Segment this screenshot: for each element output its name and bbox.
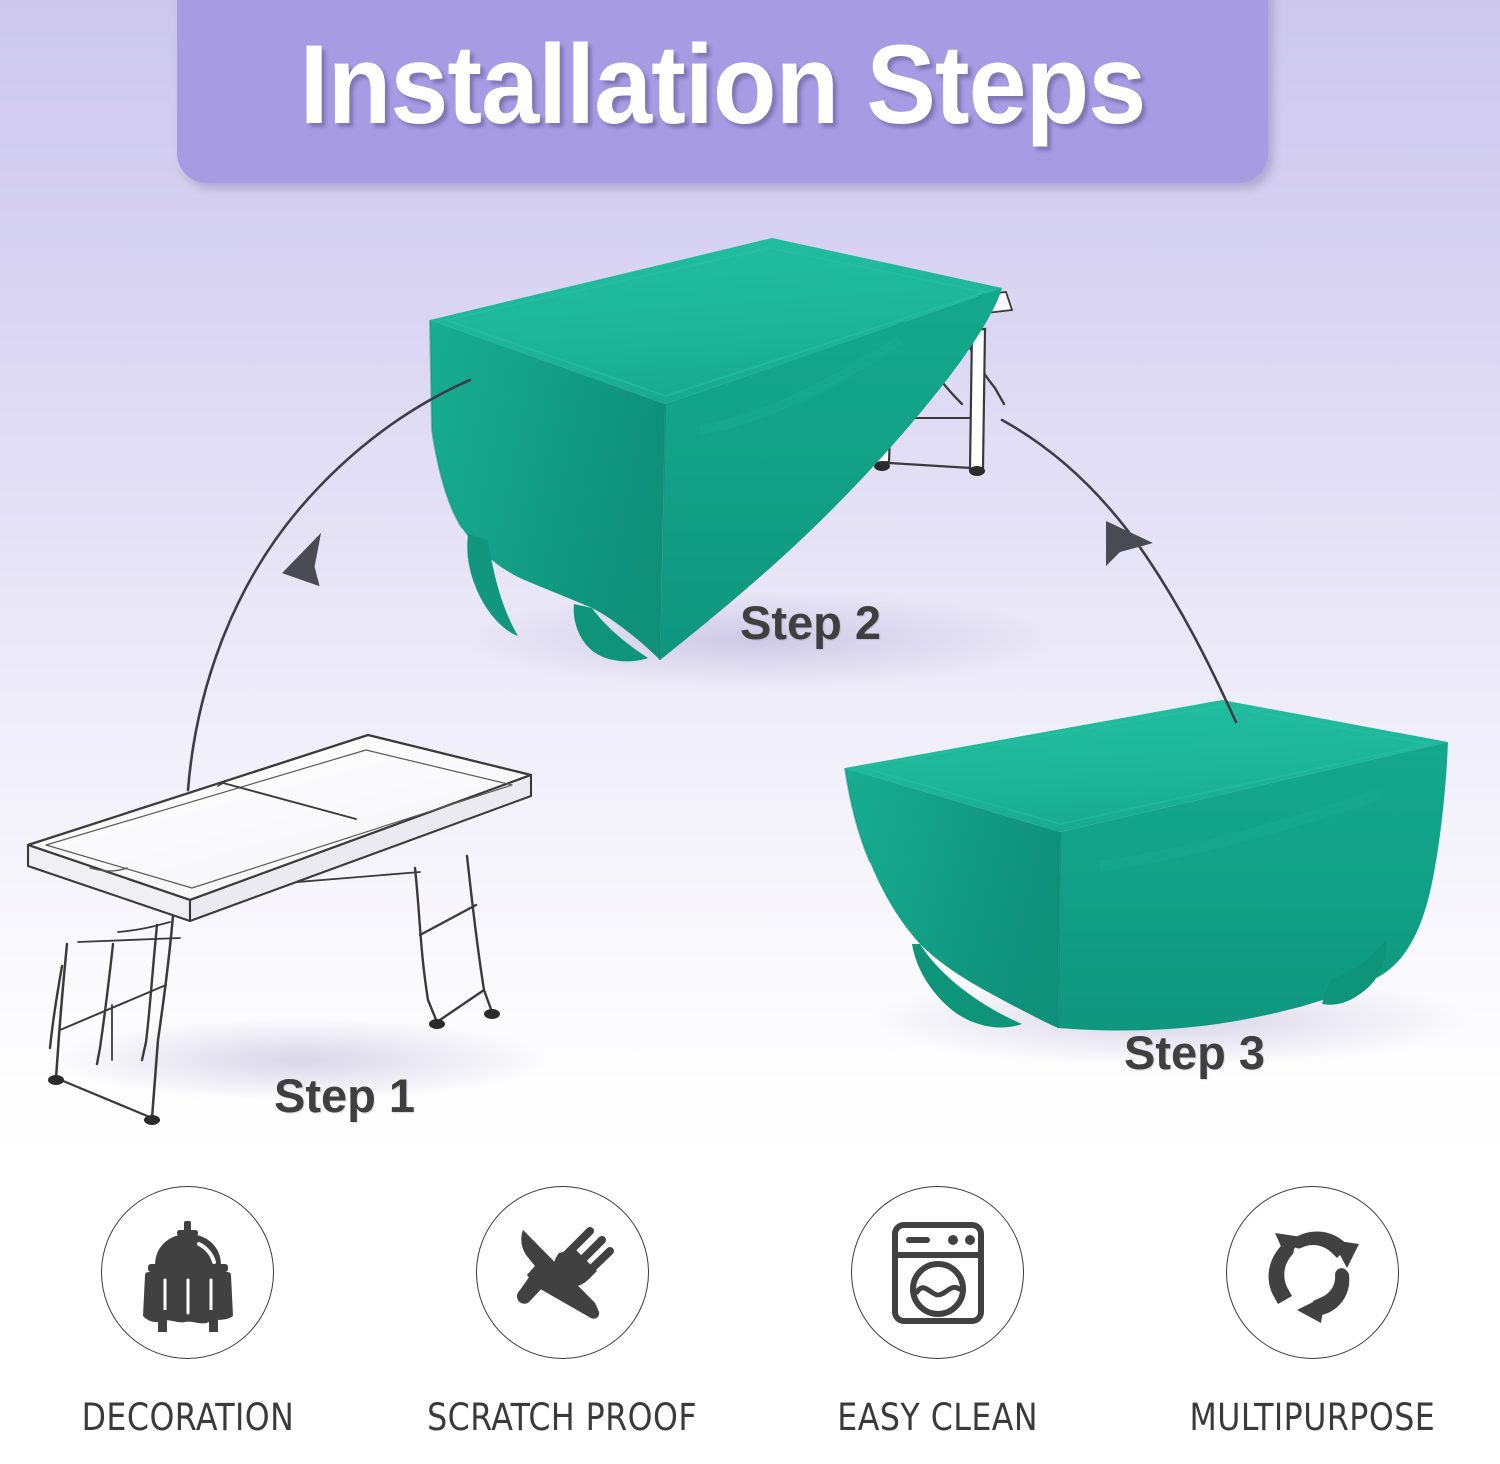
step-2-label: Step 2 (740, 595, 881, 650)
feature-easy-clean: EASY CLEAN (750, 1186, 1125, 1464)
feature-multipurpose-circle (1226, 1186, 1399, 1359)
page-title: Installation Steps (215, 0, 1230, 170)
header-banner: Installation Steps (177, 0, 1268, 183)
feature-decoration-label: DECORATION (81, 1396, 294, 1439)
feature-decoration-circle (101, 1186, 274, 1359)
feature-scratch-proof-circle (476, 1186, 649, 1359)
covered-table-icon (129, 1214, 247, 1332)
step-3-label: Step 3 (1124, 1025, 1265, 1080)
feature-multipurpose-label: MULTIPURPOSE (1190, 1396, 1436, 1439)
feature-scratch-proof-label: SCRATCH PROOF (428, 1396, 698, 1439)
recycle-arrows-icon (1257, 1217, 1369, 1329)
feature-easy-clean-circle (851, 1186, 1024, 1359)
feature-multipurpose: MULTIPURPOSE (1125, 1186, 1500, 1464)
feature-easy-clean-label: EASY CLEAN (837, 1396, 1038, 1439)
step-1-label: Step 1 (274, 1068, 415, 1123)
feature-scratch-proof: SCRATCH PROOF (375, 1186, 750, 1464)
feature-decoration: DECORATION (0, 1186, 375, 1464)
knife-fork-icon (507, 1217, 619, 1329)
infographic-page: Installation Steps (0, 0, 1500, 1464)
feature-row: DECORATION (0, 1186, 1500, 1464)
washing-machine-icon (885, 1217, 991, 1329)
